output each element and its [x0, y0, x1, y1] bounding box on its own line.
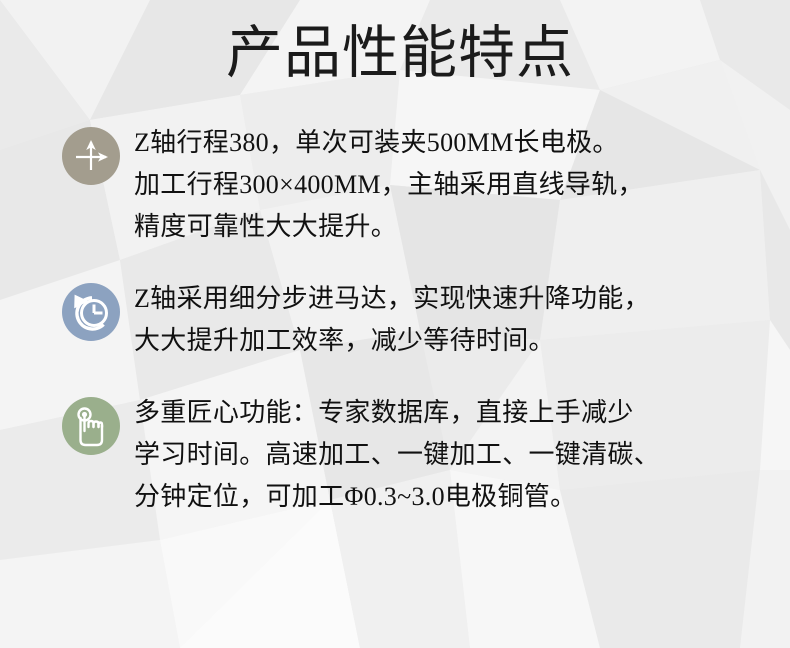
- feature-line: 学习时间。高速加工、一键加工、一键清碳、: [134, 434, 790, 476]
- header: 产品性能特点: [0, 22, 790, 85]
- feature-text: Z轴采用细分步进马达，实现快速升降功能， 大大提升加工效率，减少等待时间。: [120, 278, 790, 362]
- tap-hand-icon: [71, 405, 111, 447]
- product-feature-poster: 产品性能特点 Z轴行程380，单次可装夹500MM长电极。 加工行程300×40…: [0, 0, 790, 648]
- feature-line: Z轴采用细分步进马达，实现快速升降功能，: [134, 278, 790, 320]
- rewind-clock-icon: [70, 291, 112, 333]
- feature-line: 多重匠心功能：专家数据库，直接上手减少: [134, 392, 790, 434]
- feature-text: Z轴行程380，单次可装夹500MM长电极。 加工行程300×400MM，主轴采…: [120, 122, 790, 248]
- feature-text: 多重匠心功能：专家数据库，直接上手减少 学习时间。高速加工、一键加工、一键清碳、…: [120, 392, 790, 518]
- feature-line: 精度可靠性大大提升。: [134, 206, 790, 248]
- feature-line: 分钟定位，可加工Φ0.3~3.0电极铜管。: [134, 476, 790, 518]
- feature-line: Z轴行程380，单次可装夹500MM长电极。: [134, 122, 790, 164]
- feature-line: 大大提升加工效率，减少等待时间。: [134, 320, 790, 362]
- feature-list: Z轴行程380，单次可装夹500MM长电极。 加工行程300×400MM，主轴采…: [0, 122, 790, 518]
- tap-hand-icon-circle: [62, 397, 120, 455]
- feature-item: 多重匠心功能：专家数据库，直接上手减少 学习时间。高速加工、一键加工、一键清碳、…: [0, 392, 790, 518]
- rewind-clock-icon-circle: [62, 283, 120, 341]
- feature-item: Z轴行程380，单次可装夹500MM长电极。 加工行程300×400MM，主轴采…: [0, 122, 790, 248]
- feature-item: Z轴采用细分步进马达，实现快速升降功能， 大大提升加工效率，减少等待时间。: [0, 278, 790, 362]
- feature-line: 加工行程300×400MM，主轴采用直线导轨，: [134, 164, 790, 206]
- axis-arrows-icon-circle: [62, 127, 120, 185]
- axis-arrows-icon: [71, 136, 111, 176]
- page-title: 产品性能特点: [226, 22, 574, 85]
